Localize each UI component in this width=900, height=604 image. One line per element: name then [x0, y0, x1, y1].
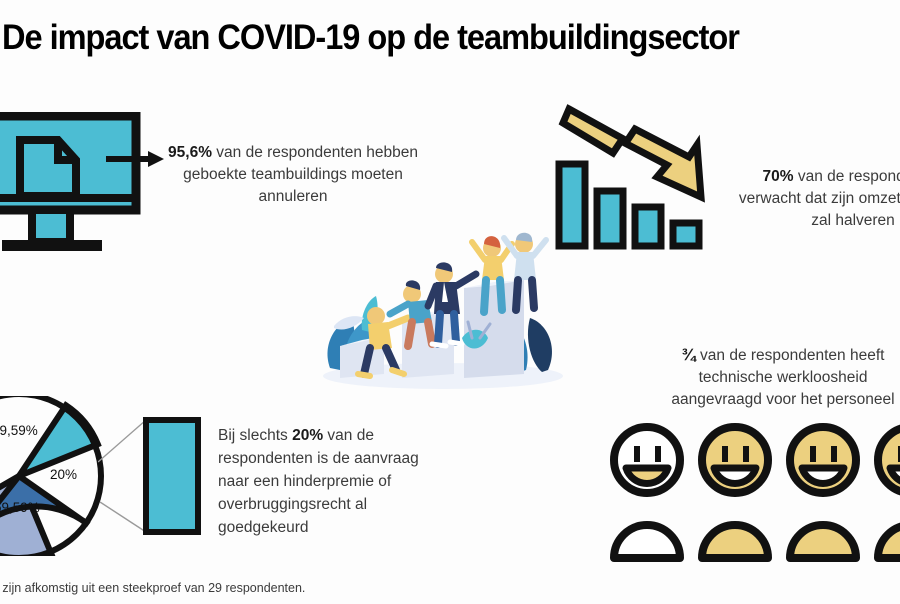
declining-bar-chart-icon — [549, 101, 721, 256]
stat-cancelled-text: 95,6% van de respondenten hebben geboekt… — [168, 142, 418, 208]
stat-revenue-text: 70% van de respondenten verwacht dat zij… — [733, 166, 900, 232]
stat-cancelled-body: van de respondenten hebben geboekte team… — [183, 144, 418, 205]
pie-callout-bar — [98, 396, 223, 556]
stat-premium-value: 20% — [292, 427, 323, 444]
pie-label-slice-1: 69,59% — [0, 423, 38, 438]
footer-source-note: Alle cijfers zijn afkomstig uit een stee… — [0, 581, 462, 595]
four-people-smiley-icon — [607, 418, 900, 563]
page-title: De impact van COVID-19 op de teambuildin… — [2, 18, 858, 58]
person-smiley-filled — [702, 427, 768, 558]
person-smiley-outline — [614, 427, 680, 558]
stat-premium-text: Bij slechts 20% van de respondenten is d… — [218, 424, 453, 539]
person-smiley-filled — [790, 427, 856, 558]
stat-revenue-value: 70% — [763, 168, 794, 185]
monitor-document-icon — [0, 112, 142, 260]
stat-unemployment-body: van de respondenten heeft technische wer… — [671, 347, 894, 408]
team-climbing-steps-illustration — [312, 218, 574, 393]
pie-label-slice-2: 20% — [50, 467, 77, 482]
person-smiley-filled — [878, 427, 900, 558]
infographic-canvas: De impact van COVID-19 op de teambuildin… — [0, 0, 900, 604]
pie-label-slice-3: 69,59% — [0, 500, 40, 515]
arrow-right-icon — [106, 150, 166, 168]
stat-unemployment-value: ¾ — [682, 345, 696, 364]
stat-premium-prefix: Bij slechts — [218, 427, 292, 444]
stat-unemployment-text: ¾ van de respondenten heeft technische w… — [653, 344, 900, 411]
stat-cancelled-value: 95,6% — [168, 144, 212, 161]
